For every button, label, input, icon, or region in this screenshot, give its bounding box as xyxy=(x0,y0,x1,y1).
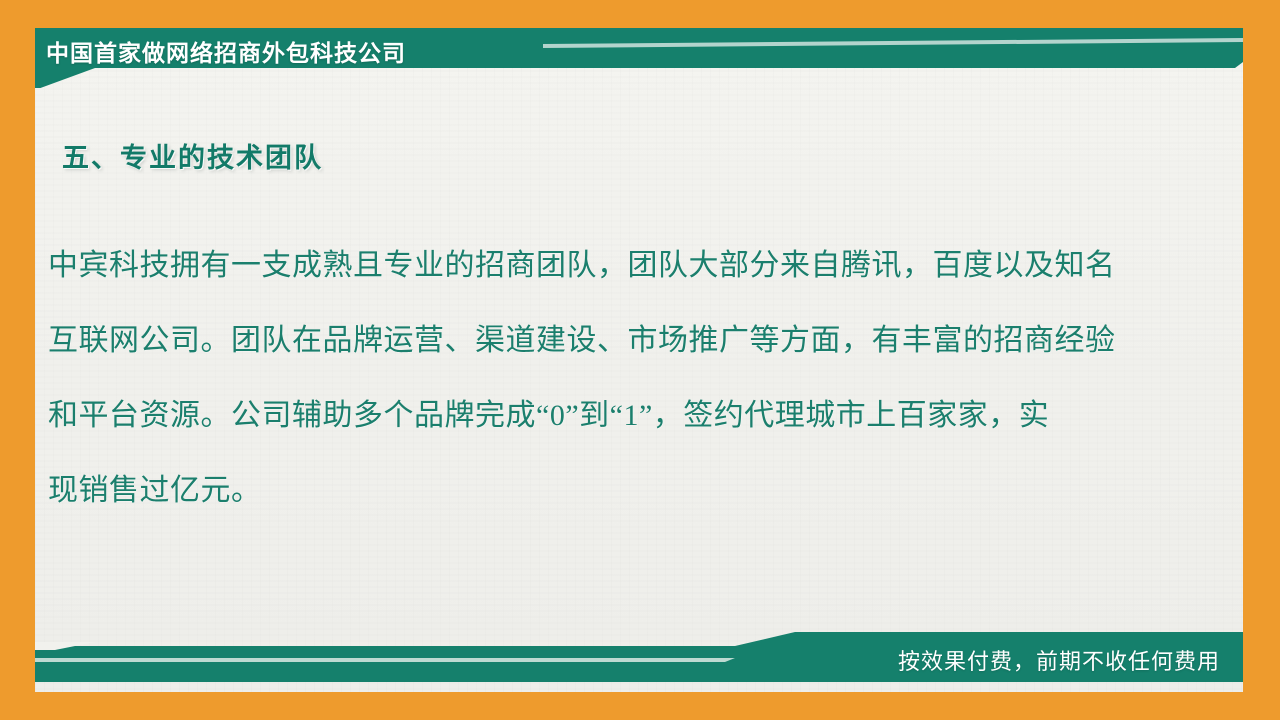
footer-slogan: 按效果付费，前期不收任何费用 xyxy=(898,645,1220,679)
body-line: 和平台资源。公司辅助多个品牌完成“0”到“1”，签约代理城市上百家家，实 xyxy=(48,378,1188,453)
slide-canvas: 中国首家做网络招商外包科技公司 五、专业的技术团队 中宾科技拥有一支成熟且专业的… xyxy=(0,0,1280,720)
section-heading: 五、专业的技术团队 xyxy=(62,136,323,175)
body-line: 互联网公司。团队在品牌运营、渠道建设、市场推广等方面，有丰富的招商经验 xyxy=(48,303,1188,378)
body-paragraph: 中宾科技拥有一支成熟且专业的招商团队，团队大部分来自腾讯，百度以及知名 互联网公… xyxy=(48,228,1188,528)
body-line: 中宾科技拥有一支成熟且专业的招商团队，团队大部分来自腾讯，百度以及知名 xyxy=(48,228,1188,303)
header-title: 中国首家做网络招商外包科技公司 xyxy=(46,34,406,72)
body-line: 现销售过亿元。 xyxy=(48,453,1188,528)
